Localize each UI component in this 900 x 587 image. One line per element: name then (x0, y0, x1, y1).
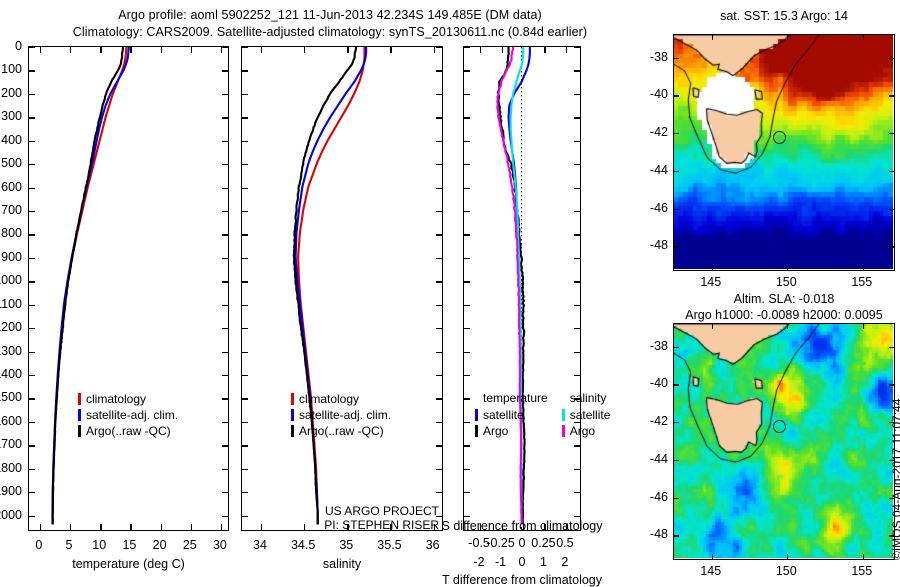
depth-label: 1600 (0, 414, 22, 428)
depth-label: 700 (0, 203, 22, 217)
sla-field (674, 324, 893, 558)
map-x-tick (712, 265, 713, 270)
legend-row: satellite-adj. clim. (291, 407, 391, 423)
legend-label: Argo(..raw -QC) (86, 424, 171, 438)
map-y-tick (889, 95, 894, 96)
legend-swatch (78, 409, 81, 421)
t-tick-label: 0 (519, 555, 526, 569)
legend-column-header: temperature (475, 391, 548, 407)
legend-label: climatology (299, 392, 359, 406)
map-sla[interactable] (673, 323, 895, 560)
depth-label: 1300 (0, 344, 22, 358)
axis-title-temperature: temperature (deg C) (72, 557, 185, 571)
map-y-tick (889, 347, 894, 348)
map-x-label: 150 (776, 275, 797, 289)
panel-difference (463, 46, 581, 531)
map-y-label: -48 (637, 238, 668, 252)
map-y-tick (674, 422, 679, 423)
legend-difference: temperaturesatelliteArgosalinitysatellit… (475, 391, 610, 439)
x-tick-label: 10 (92, 538, 106, 552)
legend-swatch (475, 425, 478, 437)
legend-row: Argo(..raw -QC) (291, 423, 391, 439)
map-y-label: -38 (637, 50, 668, 64)
x-tick-label: 20 (153, 538, 167, 552)
project-name: US ARGO PROJECT (269, 504, 439, 518)
figure-title-line2: Climatology: CARS2009. Satellite-adjuste… (0, 25, 660, 39)
map-x-tick (787, 554, 788, 559)
depth-label: 100 (0, 62, 22, 76)
map-y-label: -42 (637, 125, 668, 139)
depth-label: 1700 (0, 437, 22, 451)
s-tick-label: -0.25 (486, 536, 515, 550)
map-y-tick (889, 209, 894, 210)
t-tick-label: -1 (495, 555, 506, 569)
imos-credit: ©IMOS 04-Aug-2017 11:07:44 (890, 399, 900, 560)
legend-swatch (291, 409, 294, 421)
series-climatology (52, 47, 126, 524)
legend-label: climatology (86, 392, 146, 406)
map-x-tick (712, 554, 713, 559)
depth-label: 2000 (0, 508, 22, 522)
legend-label: satellite (483, 408, 524, 422)
map-y-label: -48 (637, 527, 668, 541)
series-satellite-adj-clim- (296, 47, 367, 524)
map-x-tick (863, 324, 864, 329)
legend-swatch (562, 409, 565, 421)
legend-swatch (291, 425, 294, 437)
map-title-sla: Altim. SLA: -0.018 (734, 292, 835, 306)
sst-field (674, 35, 893, 269)
legend-label: Argo (483, 424, 508, 438)
figure-canvas: Argo profile: aoml 5902252_121 11-Jun-20… (0, 0, 900, 580)
x-tick-label: 35.5 (377, 538, 401, 552)
legend-row: Argo(..raw -QC) (78, 423, 178, 439)
map-y-label: -40 (637, 87, 668, 101)
depth-label: 600 (0, 180, 22, 194)
depth-label: 800 (0, 226, 22, 240)
map-x-label: 145 (700, 275, 721, 289)
s-tick-label: 0.5 (556, 536, 573, 550)
map-y-label: -40 (637, 376, 668, 390)
map-x-label: 155 (851, 275, 872, 289)
map-y-tick (674, 498, 679, 499)
legend-row: satellite (475, 407, 548, 423)
map-x-label: 155 (851, 564, 872, 578)
map-y-tick (674, 246, 679, 247)
map-y-tick (674, 347, 679, 348)
t-tick-label: 1 (540, 555, 547, 569)
map-sst[interactable] (673, 34, 895, 271)
map-y-tick (674, 460, 679, 461)
curves-temperature (29, 47, 227, 529)
legend-column: salinitysatelliteArgo (562, 391, 611, 439)
argo-project-footer: US ARGO PROJECTPI: STEPHEN RISER (269, 504, 439, 532)
t-tick-label: 2 (561, 555, 568, 569)
legend-row: Argo (475, 423, 548, 439)
x-tick-label: 34 (253, 538, 267, 552)
axis-title-t-diff: T difference from climatology (442, 573, 602, 587)
legend-label: Argo (570, 424, 595, 438)
depth-label: 300 (0, 109, 22, 123)
legend-swatch (475, 409, 478, 421)
map-y-tick (674, 384, 679, 385)
map-y-label: -42 (637, 414, 668, 428)
map-y-label: -44 (637, 452, 668, 466)
depth-label: 1800 (0, 461, 22, 475)
x-tick-label: 25 (183, 538, 197, 552)
map-y-tick (674, 133, 679, 134)
depth-label: 1000 (0, 273, 22, 287)
depth-label: 400 (0, 133, 22, 147)
legend-swatch (291, 393, 294, 405)
map-x-tick (863, 265, 864, 270)
depth-label: 1100 (0, 297, 22, 311)
float-position-marker (773, 420, 786, 433)
panel-salinity (241, 46, 443, 531)
map-y-tick (889, 133, 894, 134)
map-x-tick (863, 35, 864, 40)
figure-title-line1: Argo profile: aoml 5902252_121 11-Jun-20… (0, 8, 660, 22)
x-tick-label: 30 (213, 538, 227, 552)
legend-row: satellite-adj. clim. (78, 407, 178, 423)
x-tick-label: 5 (66, 538, 73, 552)
legend-swatch (78, 425, 81, 437)
legend-label: satellite-adj. clim. (86, 408, 178, 422)
x-tick-label: 15 (122, 538, 136, 552)
legend-row: climatology (78, 391, 178, 407)
map-x-label: 150 (776, 564, 797, 578)
map-y-tick (674, 209, 679, 210)
legend-label: satellite (570, 408, 611, 422)
legend-salinity: climatologysatellite-adj. clim.Argo(..ra… (291, 391, 391, 439)
legend-temperature: climatologysatellite-adj. clim.Argo(..ra… (78, 391, 178, 439)
map-y-label: -46 (637, 201, 668, 215)
legend-label: satellite-adj. clim. (299, 408, 391, 422)
map-x-tick (712, 35, 713, 40)
curves-difference (464, 47, 579, 529)
x-tick-label: 35 (339, 538, 353, 552)
depth-label: 0 (0, 39, 22, 53)
map-y-tick (674, 171, 679, 172)
x-tick-label: 34.5 (291, 538, 315, 552)
depth-label: 900 (0, 250, 22, 264)
depth-label: 1500 (0, 390, 22, 404)
depth-label: 1200 (0, 320, 22, 334)
legend-swatch (562, 425, 565, 437)
axis-title-s-diff: S difference from climatology (442, 519, 603, 533)
map-x-tick (787, 35, 788, 40)
series-argo-raw-qc- (53, 47, 123, 524)
depth-label: 1400 (0, 367, 22, 381)
series-argo-raw-qc- (294, 47, 356, 524)
map-y-label: -46 (637, 490, 668, 504)
panel-temperature (28, 46, 229, 531)
depth-label: 200 (0, 86, 22, 100)
map-title-sst: sat. SST: 15.3 Argo: 14 (720, 9, 848, 23)
map-y-tick (889, 171, 894, 172)
x-tick-label: 0 (35, 538, 42, 552)
legend-swatch (78, 393, 81, 405)
map-y-label: -38 (637, 339, 668, 353)
map-y-tick (889, 58, 894, 59)
map-y-tick (889, 384, 894, 385)
s-tick-label: 0.25 (531, 536, 555, 550)
map-y-tick (889, 246, 894, 247)
map-y-tick (674, 95, 679, 96)
series-satellite-adj-clim- (52, 47, 128, 524)
x-tick-label: 36 (426, 538, 440, 552)
legend-column-header: salinity (562, 391, 611, 407)
principal-investigator: PI: STEPHEN RISER (269, 518, 439, 532)
axis-title-salinity: salinity (323, 557, 361, 571)
map-y-tick (674, 535, 679, 536)
map-x-tick (712, 324, 713, 329)
t-tick-label: -2 (474, 555, 485, 569)
depth-label: 500 (0, 156, 22, 170)
map-x-tick (787, 324, 788, 329)
map-title-sla: Argo h1000: -0.0089 h2000: 0.0095 (685, 308, 882, 322)
legend-label: Argo(..raw -QC) (299, 424, 384, 438)
map-x-tick (863, 554, 864, 559)
legend-column: temperaturesatelliteArgo (475, 391, 548, 439)
s-tick-label: 0 (519, 536, 526, 550)
legend-row: climatology (291, 391, 391, 407)
map-x-label: 145 (700, 564, 721, 578)
legend-row: satellite (562, 407, 611, 423)
curves-salinity (242, 47, 441, 529)
float-position-marker (773, 131, 786, 144)
map-y-tick (674, 58, 679, 59)
map-x-tick (787, 265, 788, 270)
legend-row: Argo (562, 423, 611, 439)
depth-label: 1900 (0, 484, 22, 498)
map-y-label: -44 (637, 163, 668, 177)
series-climatology (298, 47, 364, 524)
